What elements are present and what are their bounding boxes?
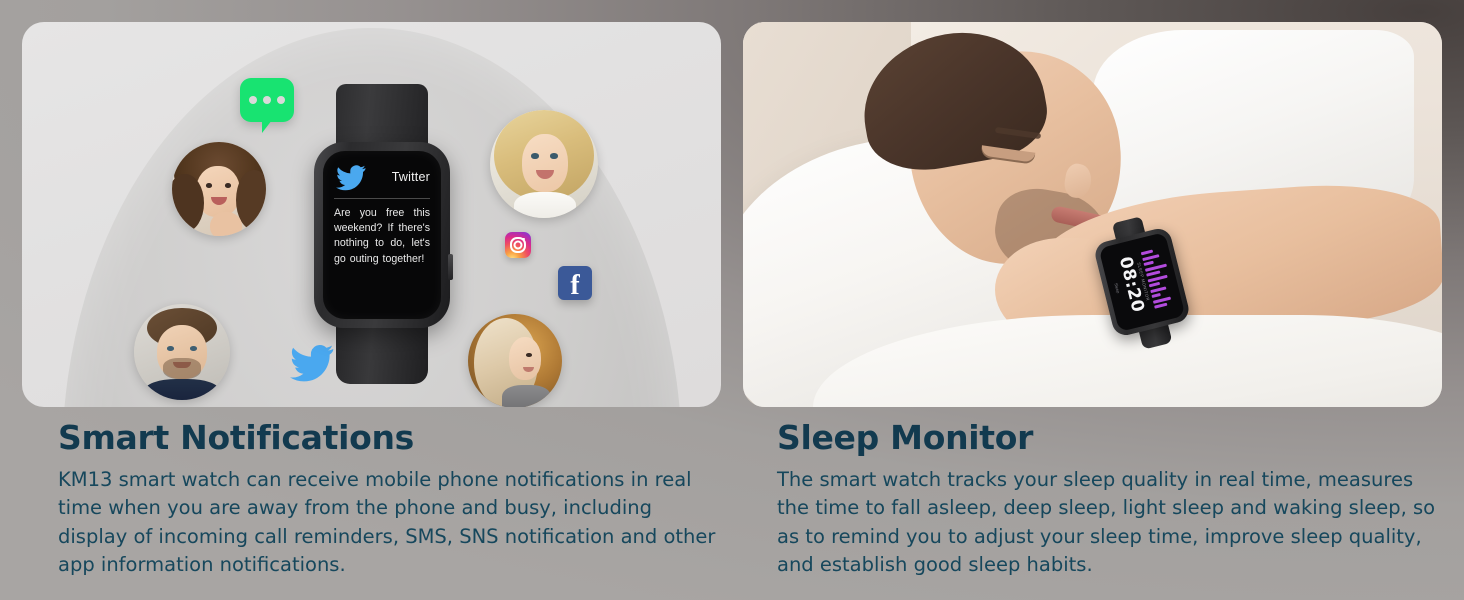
facebook-icon: f xyxy=(558,266,592,300)
watch-app-name: Twitter xyxy=(392,170,430,184)
panel-smart-notifications: f Tw xyxy=(22,22,721,600)
feature-panels-page: f Tw xyxy=(0,0,1464,600)
avatar-man-navy-sweater xyxy=(134,304,230,400)
sleep-text-block: Sleep Monitor The smart watch tracks you… xyxy=(743,407,1442,580)
description-sleep-monitor: The smart watch tracks your sleep qualit… xyxy=(777,466,1440,580)
avatar-long-hair-woman xyxy=(468,314,562,407)
watch-screen-divider xyxy=(334,198,430,199)
watch-crown-button[interactable] xyxy=(448,254,453,280)
page-title-smart-notifications: Smart Notifications xyxy=(58,421,719,456)
twitter-bird-icon xyxy=(334,162,368,192)
avatar-curly-hair-woman xyxy=(172,142,266,236)
sleep-image-card: SLEEP MONITOR 08:20 Sleep xyxy=(743,22,1442,407)
instagram-icon xyxy=(505,232,531,258)
smartwatch-notification: Twitter Are you free this weekend? If th… xyxy=(314,84,450,384)
description-smart-notifications: KM13 smart watch can receive mobile phon… xyxy=(58,466,719,580)
facebook-glyph: f xyxy=(570,272,579,300)
avatar-blonde-woman xyxy=(490,110,598,218)
sleeping-man-photo: SLEEP MONITOR 08:20 Sleep xyxy=(743,22,1442,407)
watch-notification-message: Are you free this weekend? If there's no… xyxy=(334,206,430,267)
notifications-image-card: f Tw xyxy=(22,22,721,407)
notifications-text-block: Smart Notifications KM13 smart watch can… xyxy=(22,407,721,580)
watch-body: Twitter Are you free this weekend? If th… xyxy=(314,142,450,328)
sms-message-icon xyxy=(240,78,294,122)
sleep-watch-screen[interactable]: SLEEP MONITOR 08:20 Sleep xyxy=(1099,232,1186,332)
page-title-sleep-monitor: Sleep Monitor xyxy=(777,421,1440,456)
panel-sleep-monitor: SLEEP MONITOR 08:20 Sleep Sleep Monitor … xyxy=(743,22,1442,600)
watch-screen[interactable]: Twitter Are you free this weekend? If th… xyxy=(323,151,441,319)
